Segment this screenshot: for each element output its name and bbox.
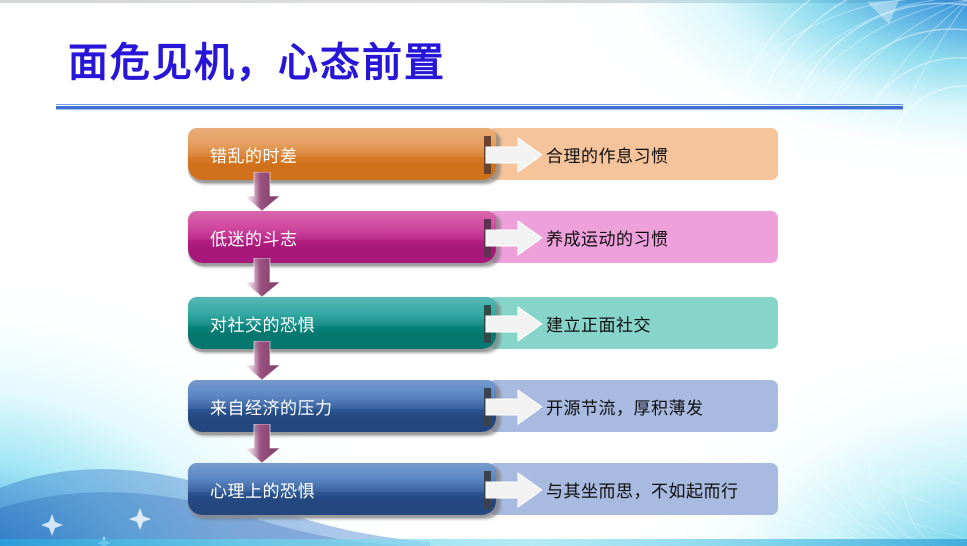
flow-arrow-right [480, 217, 558, 259]
solution-text: 建立正面社交 [546, 297, 651, 349]
process-flow-diagram: 合理的作息习惯错乱的时差养成运动的习惯低迷的斗志建立正面社交对社交的恐惧开源节流… [0, 0, 967, 546]
problem-capsule[interactable]: 来自经济的压力 [188, 380, 496, 432]
slide-canvas: 面危见机，心态前置 合理的作息习惯错乱的时差养成运动的习惯低迷的斗志建立正面社交… [0, 0, 967, 546]
flow-connector-arrow-4 [240, 424, 284, 464]
problem-capsule[interactable]: 心理上的恐惧 [188, 463, 496, 515]
flow-arrow-right [480, 134, 558, 176]
problem-text: 心理上的恐惧 [210, 463, 315, 515]
flow-connector-arrow-2 [240, 258, 284, 298]
flow-connector-arrow-3 [240, 341, 284, 381]
problem-capsule[interactable]: 错乱的时差 [188, 128, 496, 180]
solution-text: 与其坐而思，不如起而行 [546, 463, 739, 515]
solution-text: 开源节流，厚积薄发 [546, 380, 704, 432]
flow-row: 养成运动的习惯低迷的斗志 [188, 211, 778, 263]
flow-arrow-right [480, 469, 558, 511]
problem-text: 低迷的斗志 [210, 211, 298, 263]
solution-text: 养成运动的习惯 [546, 211, 669, 263]
flow-arrow-right [480, 303, 558, 345]
flow-row: 与其坐而思，不如起而行心理上的恐惧 [188, 463, 778, 515]
problem-capsule[interactable]: 低迷的斗志 [188, 211, 496, 263]
flow-arrow-right [480, 386, 558, 428]
solution-text: 合理的作息习惯 [546, 128, 669, 180]
flow-connector-arrow-1 [240, 172, 284, 212]
problem-capsule[interactable]: 对社交的恐惧 [188, 297, 496, 349]
